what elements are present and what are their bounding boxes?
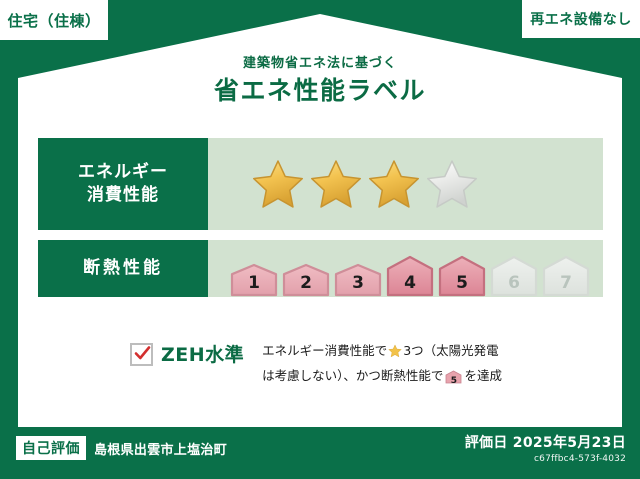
insulation-level-scale: 1234567 bbox=[208, 240, 590, 297]
insulation-badge-5: 5 bbox=[438, 255, 486, 297]
insulation-badge-number: 5 bbox=[438, 273, 486, 293]
insulation-badge-2: 2 bbox=[282, 263, 330, 297]
star-rating bbox=[208, 158, 478, 210]
zeh-desc-line2-a: は考慮しない）、かつ断熱性能で bbox=[262, 368, 443, 383]
inline-insulation-badge: 5 bbox=[445, 369, 462, 391]
tag-renewable-energy-text: 再エネ設備なし bbox=[530, 9, 632, 29]
insulation-badge-3: 3 bbox=[334, 263, 382, 297]
footer-left: 自己評価 島根県出雲市上塩治町 bbox=[16, 436, 227, 460]
row-insulation-performance: 断熱性能 1234567 bbox=[38, 240, 603, 297]
zeh-desc-line1-a: エネルギー消費性能で bbox=[262, 343, 387, 358]
row-insulation-label: 断熱性能 bbox=[38, 240, 208, 297]
star-filled-icon bbox=[310, 158, 362, 210]
row-energy-body bbox=[208, 138, 603, 230]
zeh-desc-line2-b: を達成 bbox=[464, 368, 502, 383]
zeh-description-line2: は考慮しない）、かつ断熱性能で 5 を達成 bbox=[262, 365, 502, 391]
evaluation-date: 評価日 2025年5月23日 bbox=[465, 432, 626, 452]
star-filled-icon bbox=[368, 158, 420, 210]
insulation-badge-7: 7 bbox=[542, 255, 590, 297]
check-icon bbox=[133, 344, 152, 363]
insulation-badge-number: 1 bbox=[230, 273, 278, 293]
row-insulation-body: 1234567 bbox=[208, 240, 603, 297]
row-energy-label-line2: 消費性能 bbox=[87, 184, 159, 207]
row-insulation-label-text: 断熱性能 bbox=[83, 257, 163, 280]
zeh-label: ZEH水準 bbox=[161, 340, 244, 367]
row-energy-label-line1: エネルギー bbox=[78, 161, 168, 184]
evaluation-id: c67ffbc4-573f-4032 bbox=[465, 454, 626, 464]
inline-star-icon bbox=[388, 343, 402, 365]
zeh-block: ZEH水準 エネルギー消費性能で 3つ（太陽光発電 は考慮しない）、かつ断熱性能… bbox=[130, 340, 502, 390]
insulation-badge-6: 6 bbox=[490, 255, 538, 297]
zeh-checkbox[interactable] bbox=[130, 343, 153, 366]
insulation-badge-number: 2 bbox=[282, 273, 330, 293]
self-evaluation-badge: 自己評価 bbox=[16, 436, 86, 460]
label-title-block: 建築物省エネ法に基づく 省エネ性能ラベル bbox=[0, 56, 640, 104]
zeh-description-line1: エネルギー消費性能で 3つ（太陽光発電 bbox=[262, 340, 502, 365]
star-empty-icon bbox=[426, 158, 478, 210]
footer: 自己評価 島根県出雲市上塩治町 評価日 2025年5月23日 c67ffbc4-… bbox=[0, 427, 640, 479]
row-energy-label: エネルギー 消費性能 bbox=[38, 138, 208, 230]
insulation-badge-1: 1 bbox=[230, 263, 278, 297]
energy-performance-label: 住宅（住棟） 再エネ設備なし 建築物省エネ法に基づく 省エネ性能ラベル エネルギ… bbox=[0, 0, 640, 479]
tag-building-type: 住宅（住棟） bbox=[0, 0, 108, 40]
address-text: 島根県出雲市上塩治町 bbox=[94, 439, 227, 458]
insulation-badge-number: 6 bbox=[490, 273, 538, 293]
insulation-badge-number: 4 bbox=[386, 273, 434, 293]
insulation-badge-number: 3 bbox=[334, 273, 382, 293]
zeh-desc-line1-b: 3つ（太陽光発電 bbox=[403, 343, 498, 358]
insulation-badge-number: 7 bbox=[542, 273, 590, 293]
inline-insulation-badge-number: 5 bbox=[445, 374, 462, 389]
insulation-badge-4: 4 bbox=[386, 255, 434, 297]
tag-renewable-energy: 再エネ設備なし bbox=[522, 0, 640, 38]
tag-building-type-text: 住宅（住棟） bbox=[7, 10, 100, 31]
title-subtitle: 建築物省エネ法に基づく bbox=[0, 56, 640, 72]
star-filled-icon bbox=[252, 158, 304, 210]
row-energy-performance: エネルギー 消費性能 bbox=[38, 138, 603, 230]
page-title: 省エネ性能ラベル bbox=[0, 77, 640, 105]
zeh-description: エネルギー消費性能で 3つ（太陽光発電 は考慮しない）、かつ断熱性能で 5 を達… bbox=[262, 340, 502, 390]
footer-right: 評価日 2025年5月23日 c67ffbc4-573f-4032 bbox=[465, 432, 626, 464]
